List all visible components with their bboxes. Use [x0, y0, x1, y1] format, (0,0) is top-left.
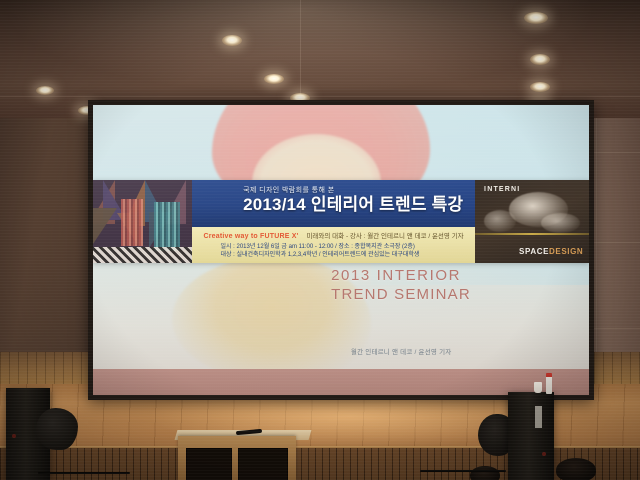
space-design-logo: SPACEDESIGN	[519, 247, 583, 256]
ceiling-light	[530, 82, 550, 92]
banner-photo-rug	[93, 247, 192, 264]
banner-title: 2013/14 인테리어 트렌드 특강	[243, 195, 475, 214]
banner-photo-lamp	[121, 199, 143, 247]
gold-rule	[475, 233, 589, 235]
ceiling-light	[524, 12, 548, 24]
banner-text-area: 국제 디자인 박람회를 통해 본 2013/14 인테리어 트렌드 특강 Cre…	[192, 180, 475, 263]
audience-head-center	[470, 466, 500, 480]
audience-head-right	[556, 458, 596, 480]
left-wall	[0, 84, 96, 384]
ceiling-light	[530, 54, 550, 65]
banner-lecturer-line: 미래와의 대화 - 강사 : 월간 인테르니 앤 데코 / 윤선영 기자	[306, 230, 463, 240]
ceiling-light	[36, 86, 54, 95]
banner-subtitle: 국제 디자인 박람회를 통해 본	[243, 185, 475, 195]
slide-headline: 2013 INTERIOR TREND SEMINAR	[331, 266, 471, 304]
equipment-bag-left	[36, 408, 78, 450]
slide-headline-line-2: TREND SEMINAR	[331, 285, 471, 304]
banner-title-block: 국제 디자인 박람회를 통해 본 2013/14 인테리어 트렌드 특강	[192, 180, 475, 226]
interni-logo: INTERNI	[484, 186, 520, 193]
slide-credit: 월간 인테르니 앤 데코 / 윤선영 기자	[351, 346, 452, 356]
ceiling-light	[264, 74, 284, 84]
banner-creative-tag: Creative way to FUTURE X'	[203, 233, 298, 240]
space-design-logo-space: SPACE	[519, 247, 549, 256]
banner-info-line-1: 일시 : 2013년 12월 6일 금 am 11:00 - 12:00 / 장…	[220, 243, 469, 252]
bottle-cap	[546, 373, 552, 377]
water-bottle	[546, 376, 552, 394]
screen-surface: 국제 디자인 박람회를 통해 본 2013/14 인테리어 트렌드 특강 Cre…	[93, 105, 589, 395]
podium	[178, 436, 296, 480]
projection-screen: 국제 디자인 박람회를 통해 본 2013/14 인테리어 트렌드 특강 Cre…	[88, 100, 594, 400]
paper-cup	[534, 382, 542, 393]
banner-lecturer-row: Creative way to FUTURE X' 미래와의 대화 - 강사 :…	[203, 230, 469, 240]
poster-banner: 국제 디자인 박람회를 통해 본 2013/14 인테리어 트렌드 특강 Cre…	[93, 180, 589, 263]
banner-details: 일시 : 2013년 12월 6일 금 am 11:00 - 12:00 / 장…	[220, 243, 469, 260]
banner-right-photo: INTERNI SPACEDESIGN	[475, 180, 589, 263]
banner-left-photo	[93, 180, 192, 263]
ceiling-light	[222, 35, 242, 46]
cable	[38, 472, 130, 474]
slide-headline-line-1: 2013 INTERIOR	[331, 266, 471, 285]
banner-info-block: Creative way to FUTURE X' 미래와의 대화 - 강사 :…	[192, 227, 475, 263]
loudspeaker-right	[508, 392, 554, 480]
banner-photo-curtain	[154, 202, 180, 252]
cable	[420, 470, 506, 472]
banner-info-line-2: 대상 : 실내건축디자인학과 1,2,3,4학년 / 인테리어트렌드에 관심있는…	[220, 251, 469, 260]
auditorium-photo: 국제 디자인 박람회를 통해 본 2013/14 인테리어 트렌드 특강 Cre…	[0, 0, 640, 480]
space-design-logo-design: DESIGN	[549, 247, 583, 256]
speaker-label	[535, 406, 542, 428]
